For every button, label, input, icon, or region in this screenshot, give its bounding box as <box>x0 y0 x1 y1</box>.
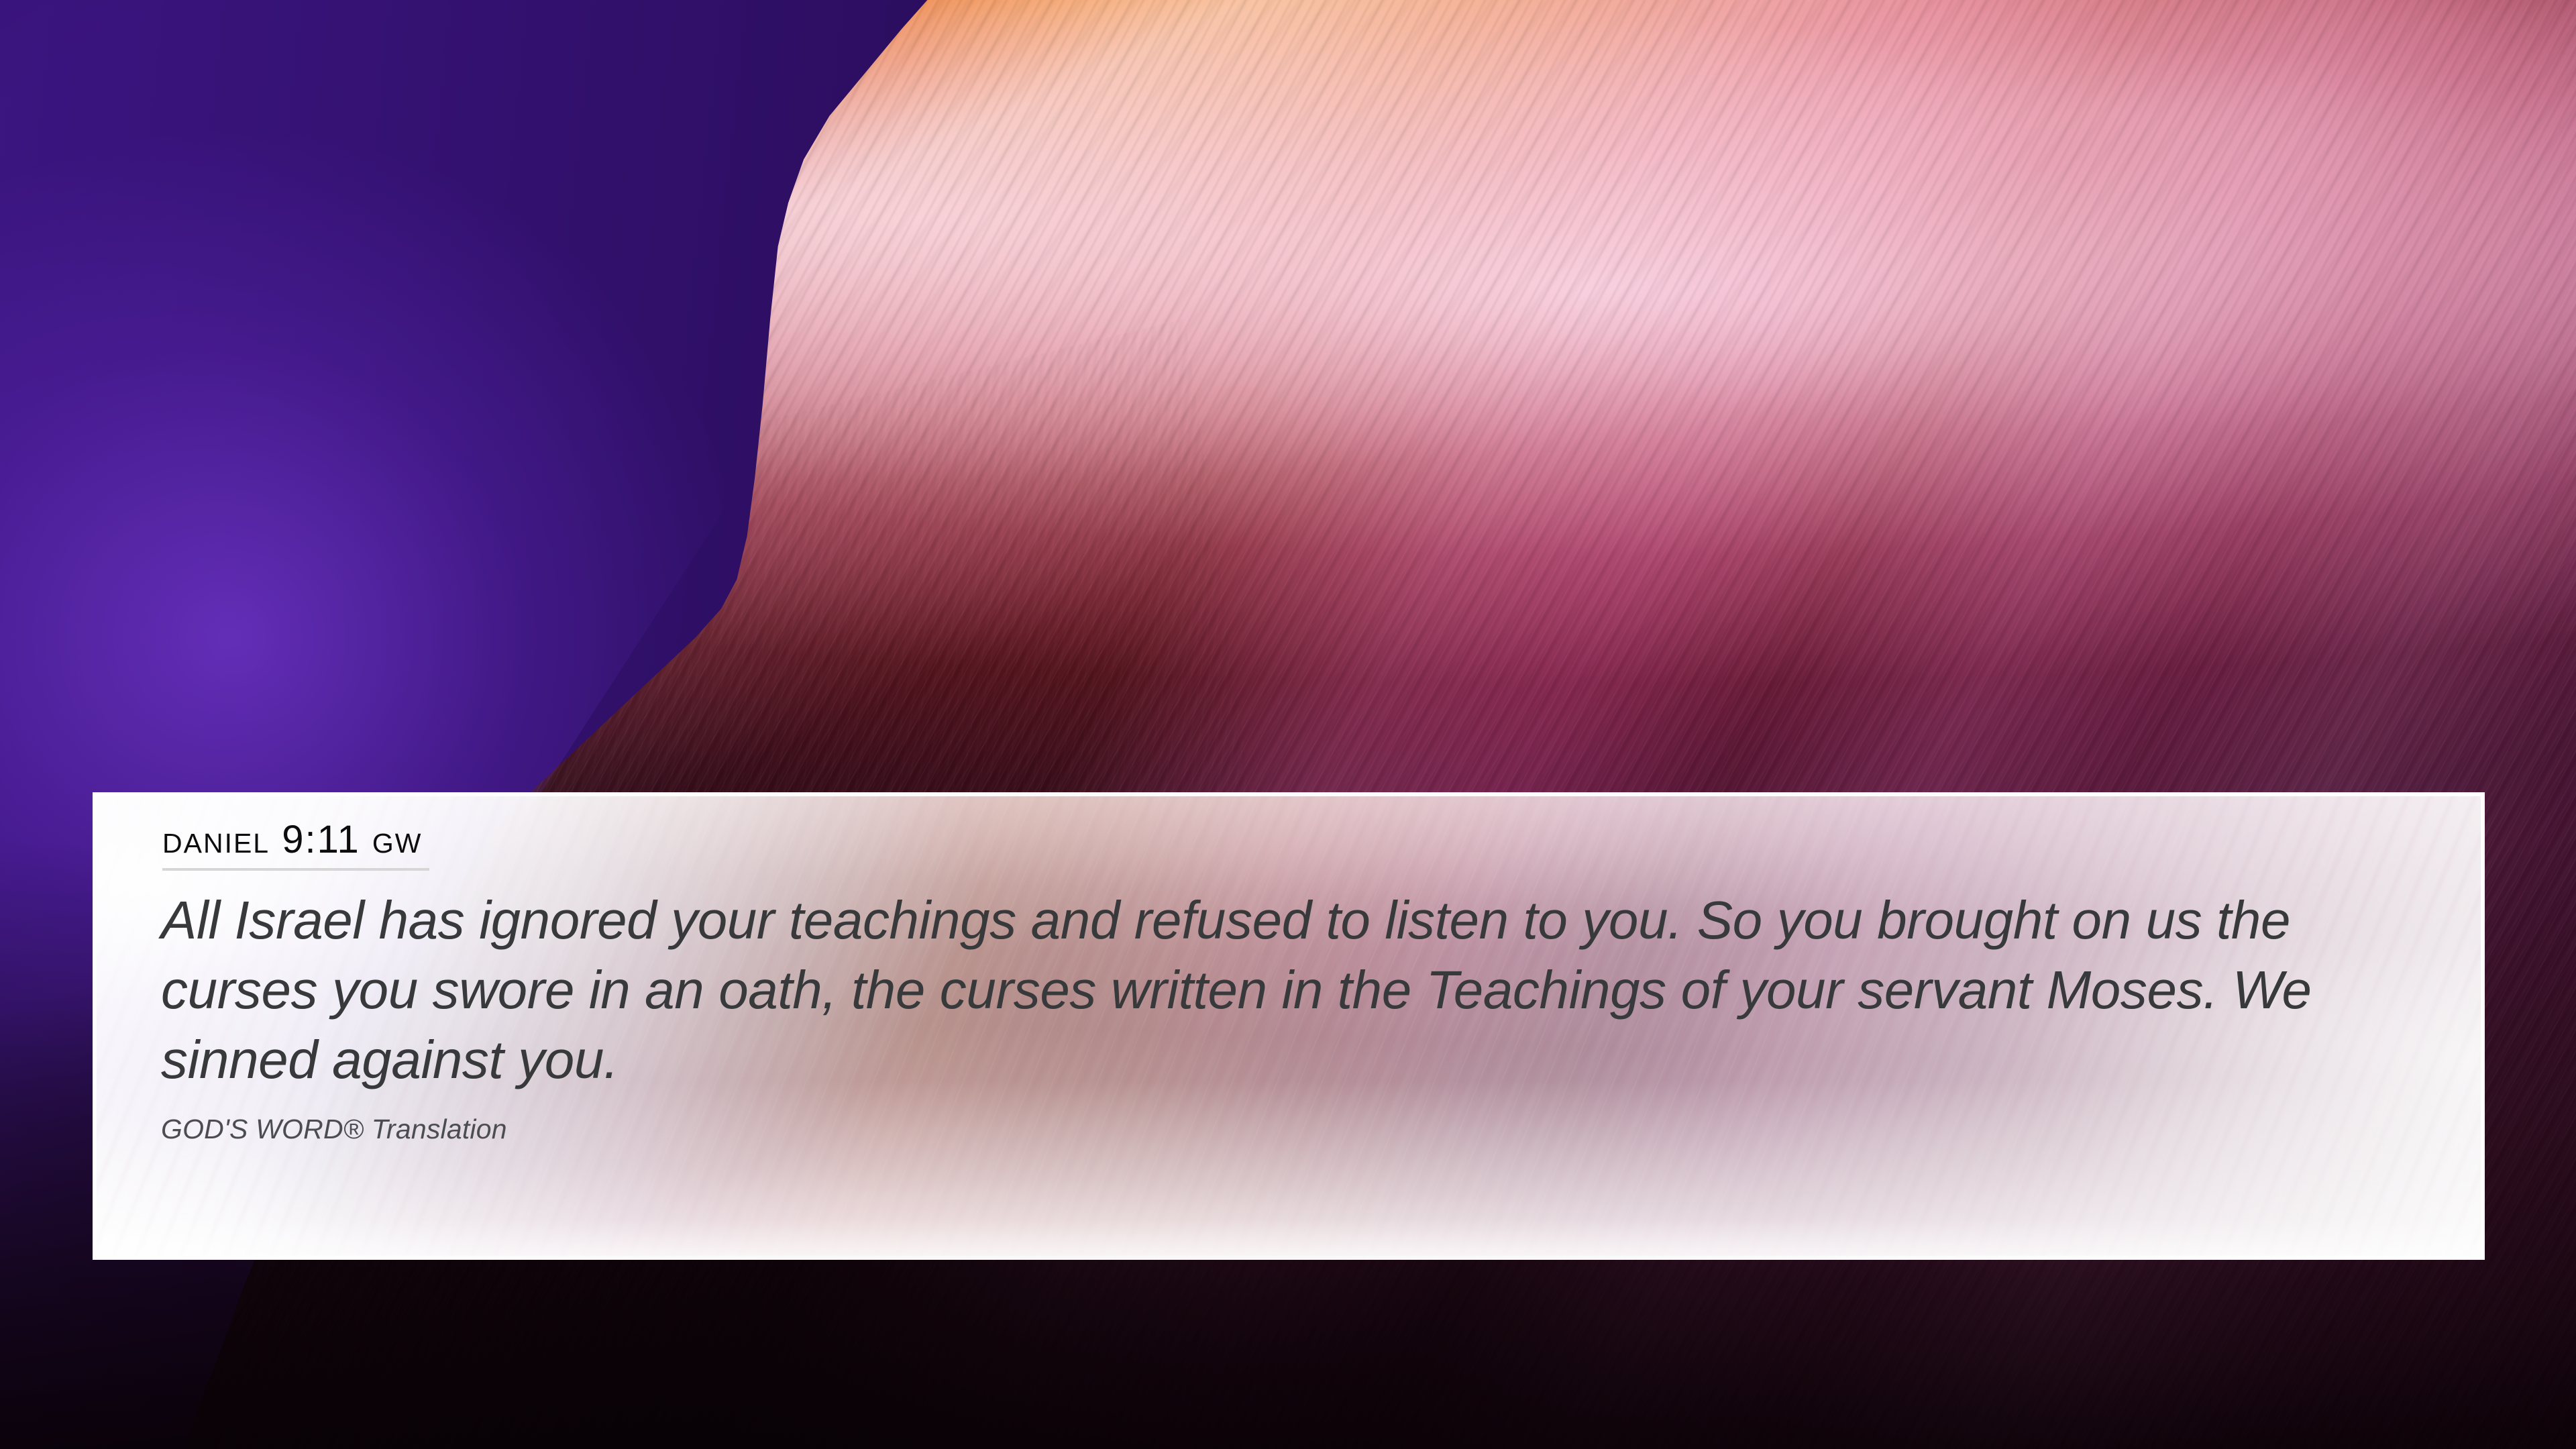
verse-card-content: Daniel 9:11 GW All Israel has ignored yo… <box>97 796 2481 1145</box>
verse-reference: Daniel 9:11 GW <box>162 820 429 871</box>
wallpaper-canvas: Daniel 9:11 GW All Israel has ignored yo… <box>0 0 2576 1449</box>
verse-translation-label: GOD'S WORD® Translation <box>161 1114 2481 1145</box>
verse-card: Daniel 9:11 GW All Israel has ignored yo… <box>93 792 2485 1260</box>
verse-body-text: All Israel has ignored your teachings an… <box>161 885 2402 1095</box>
